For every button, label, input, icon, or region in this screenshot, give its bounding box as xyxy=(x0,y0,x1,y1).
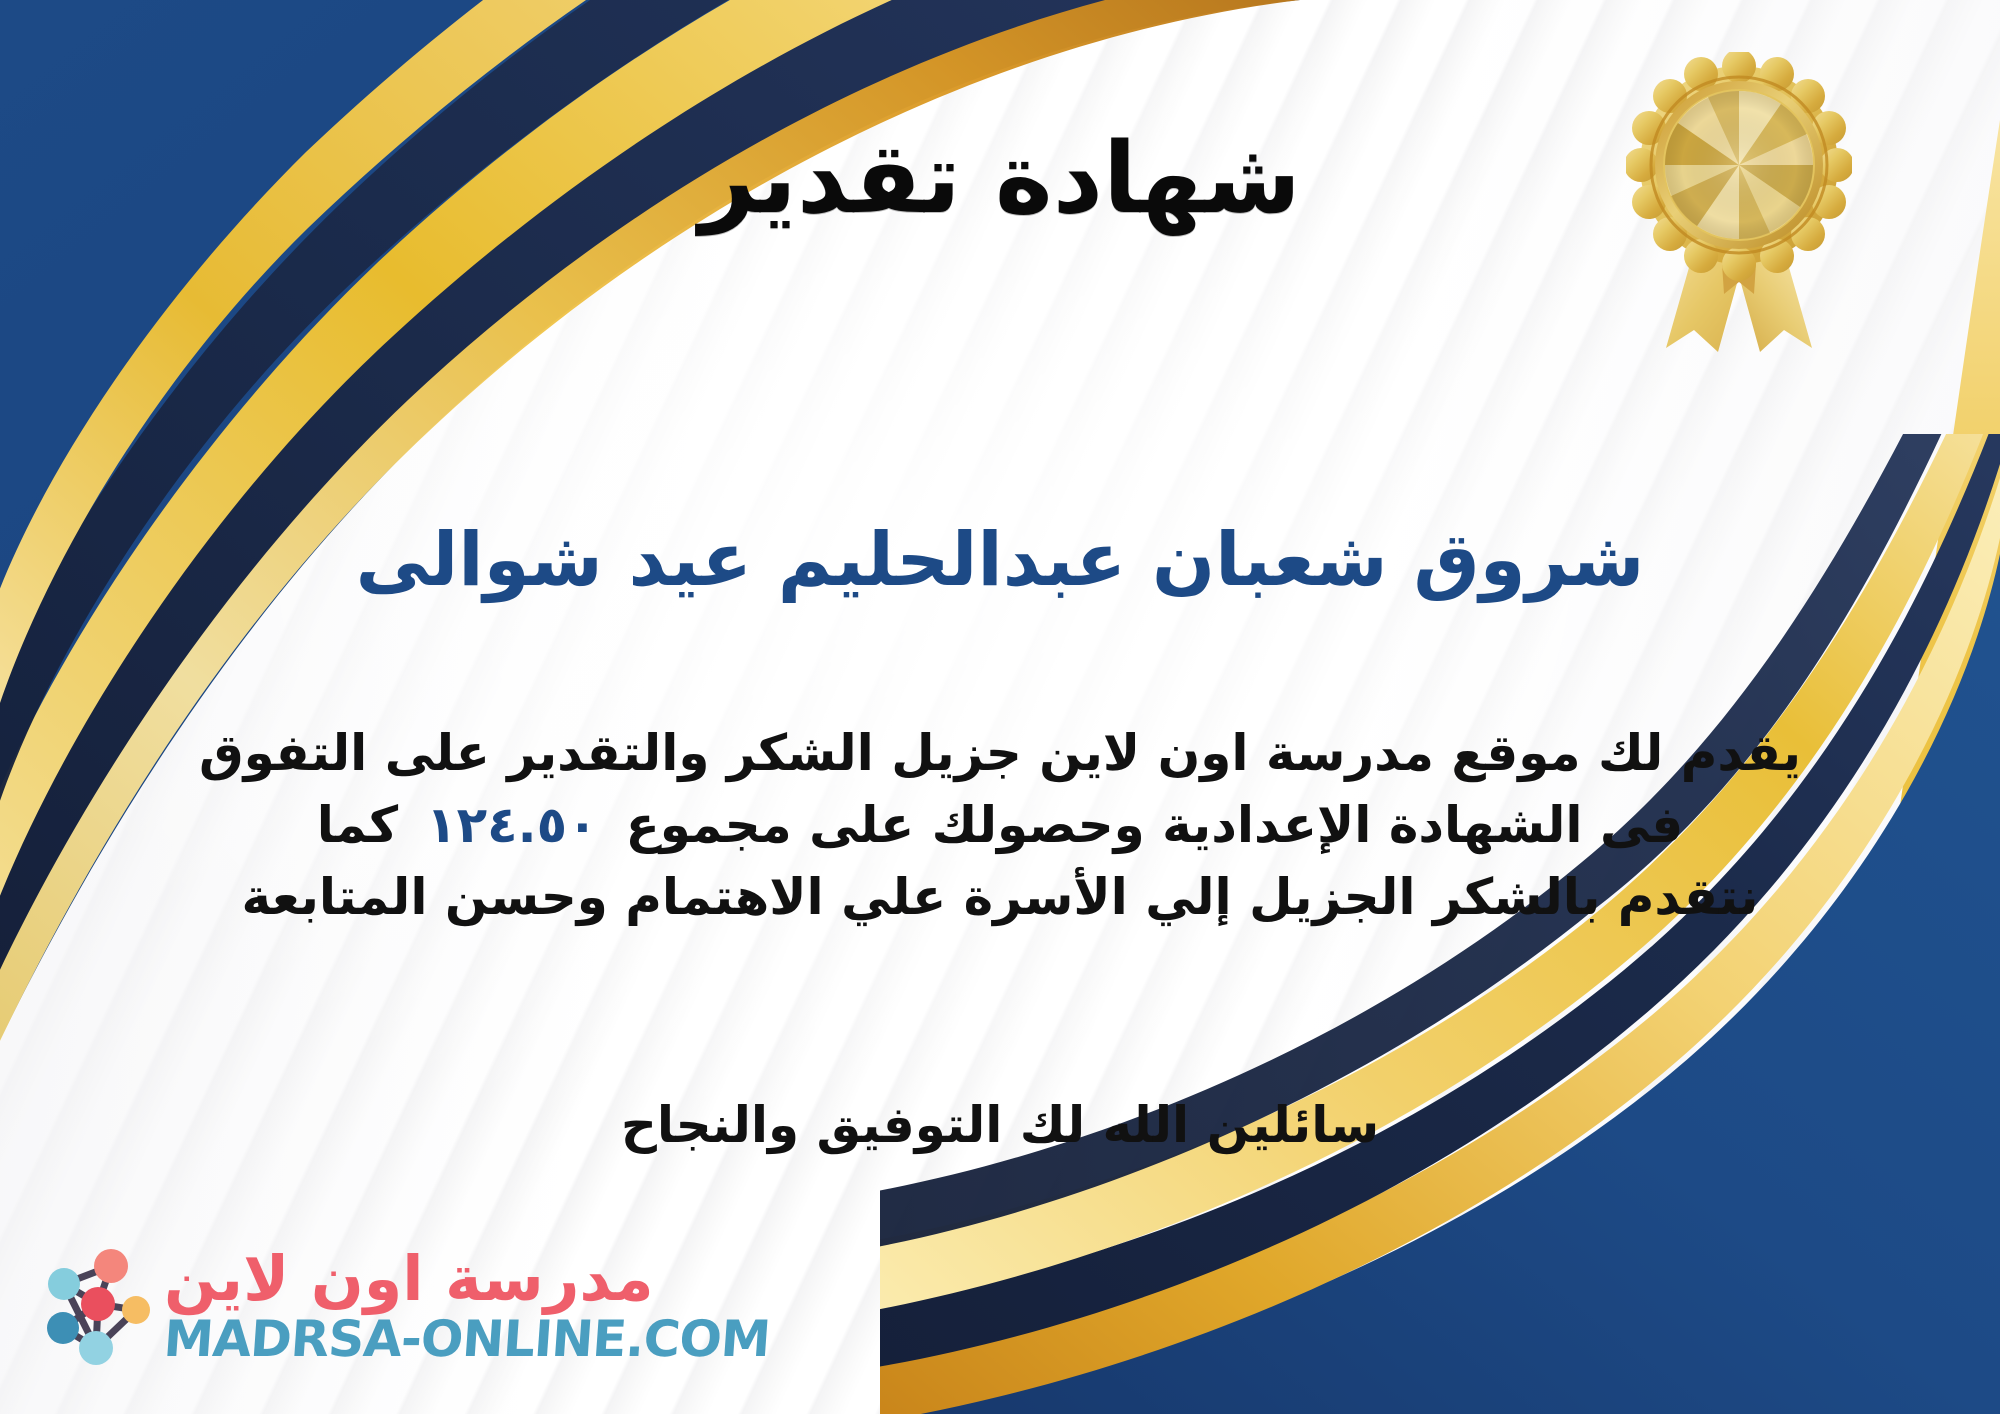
body-line-1: يقدم لك موقع مدرسة اون لاين جزيل الشكر و… xyxy=(60,720,1940,786)
logo-text-group: مدرسة اون لاين MADRSA-ONLINE.COM xyxy=(164,1248,770,1364)
certificate-body: يقدم لك موقع مدرسة اون لاين جزيل الشكر و… xyxy=(60,720,1940,936)
certificate-canvas: شهادة تقدير شروق شعبان عبدالحليم عيد شوا… xyxy=(0,0,2000,1414)
body-line-3: نتقدم بالشكر الجزيل إلي الأسرة علي الاهت… xyxy=(60,864,1940,930)
closing-wish-text: سائلين الله لك التوفيق والنجاح xyxy=(0,1096,2000,1154)
logo-arabic-name: مدرسة اون لاين xyxy=(164,1248,654,1310)
body-line-2: فى الشهادة الإعدادية وحصولك على مجموع١٢٤… xyxy=(60,792,1940,858)
recipient-name: شروق شعبان عبدالحليم عيد شوالى xyxy=(0,518,2000,603)
body-line-2-end: كما xyxy=(317,796,398,854)
logo-website-url: MADRSA-ONLINE.COM xyxy=(162,1314,771,1364)
total-score-value: ١٢٤.٥٠ xyxy=(398,796,626,854)
network-nodes-icon xyxy=(36,1242,154,1370)
page-title: شهادة تقدير xyxy=(0,128,2000,231)
site-logo[interactable]: مدرسة اون لاين MADRSA-ONLINE.COM xyxy=(36,1226,596,1386)
body-line-2-start: فى الشهادة الإعدادية وحصولك على مجموع xyxy=(626,796,1684,854)
